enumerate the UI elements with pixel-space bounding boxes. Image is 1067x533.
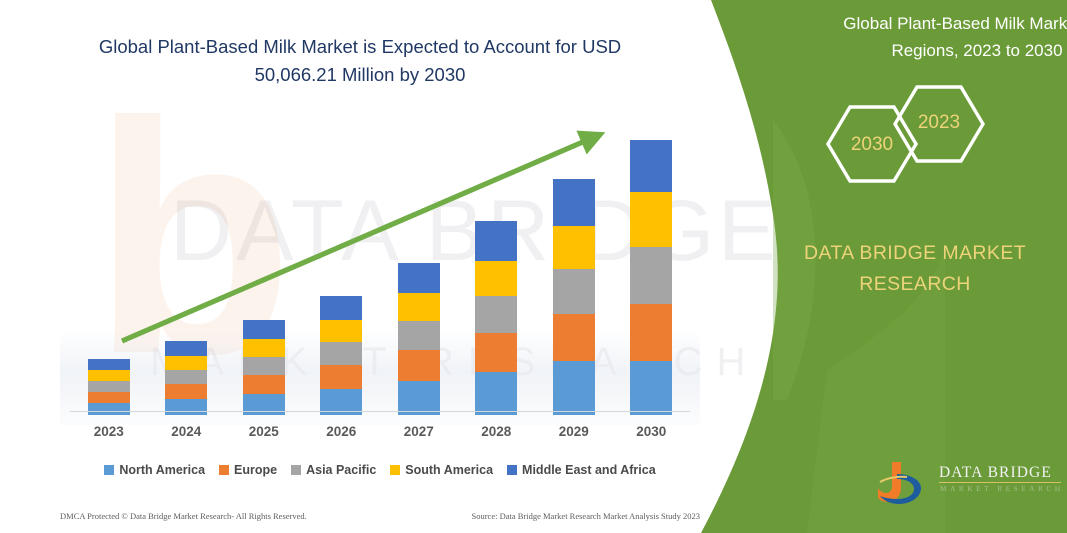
bar-2026 (320, 296, 362, 415)
x-label-2025: 2025 (229, 424, 299, 439)
segment-asia-pacific (243, 357, 285, 375)
segment-middle-east-and-africa (398, 263, 440, 293)
segment-europe (320, 365, 362, 389)
legend-label: Middle East and Africa (522, 463, 656, 477)
bar-2030 (630, 140, 672, 415)
segment-north-america (88, 403, 130, 415)
segment-middle-east-and-africa (320, 296, 362, 320)
hexagon-2023-label: 2023 (894, 112, 984, 134)
db-logo-icon (877, 458, 937, 508)
x-label-2028: 2028 (461, 424, 531, 439)
infographic-root: b DATA BRIDGE MARKET RESEARCH Global Pla… (0, 0, 1067, 533)
logo-tagline: MARKET RESEARCH (940, 484, 1064, 493)
x-label-2024: 2024 (151, 424, 221, 439)
legend-label: Europe (234, 463, 277, 477)
legend-swatch-icon (104, 465, 114, 475)
segment-asia-pacific (475, 296, 517, 333)
segment-europe (553, 314, 595, 361)
segment-south-america (398, 293, 440, 321)
segment-middle-east-and-africa (88, 359, 130, 370)
segment-south-america (553, 226, 595, 269)
segment-asia-pacific (553, 269, 595, 314)
brand-panel: Global Plant-Based Milk Market, By Regio… (677, 0, 1067, 533)
segment-asia-pacific (88, 381, 130, 392)
segment-europe (243, 375, 285, 394)
bar-2025 (243, 320, 285, 415)
legend-swatch-icon (291, 465, 301, 475)
footer-bar: DMCA Protected © Data Bridge Market Rese… (60, 508, 700, 524)
bar-2027 (398, 263, 440, 415)
segment-asia-pacific (320, 342, 362, 365)
company-logo: DATA BRIDGE MARKET RESEARCH (877, 458, 1067, 510)
legend-label: Asia Pacific (306, 463, 376, 477)
segment-europe (475, 333, 517, 372)
segment-middle-east-and-africa (165, 341, 207, 356)
legend-item-south-america[interactable]: South America (390, 463, 493, 477)
legend-label: South America (405, 463, 493, 477)
chart-legend: North AmericaEuropeAsia PacificSouth Ame… (70, 461, 690, 479)
x-label-2026: 2026 (306, 424, 376, 439)
legend-swatch-icon (390, 465, 400, 475)
bar-2024 (165, 341, 207, 415)
bar-2028 (475, 221, 517, 415)
axis-baseline (70, 411, 690, 412)
logo-wordmark: DATA BRIDGE (939, 464, 1052, 482)
legend-item-middle-east-and-africa[interactable]: Middle East and Africa (507, 463, 656, 477)
bar-2029 (553, 179, 595, 415)
hexagon-2030-label: 2030 (827, 134, 917, 156)
segment-south-america (320, 320, 362, 342)
segment-middle-east-and-africa (553, 179, 595, 226)
segment-europe (88, 392, 130, 403)
page-title: Global Plant-Based Milk Market is Expect… (60, 33, 660, 89)
legend-swatch-icon (219, 465, 229, 475)
x-label-2023: 2023 (74, 424, 144, 439)
segment-europe (398, 350, 440, 381)
x-label-2027: 2027 (384, 424, 454, 439)
segment-middle-east-and-africa (243, 320, 285, 339)
segment-middle-east-and-africa (630, 140, 672, 192)
segment-south-america (475, 261, 517, 296)
segment-north-america (165, 399, 207, 415)
segment-north-america (475, 372, 517, 415)
segment-north-america (553, 361, 595, 415)
segment-asia-pacific (398, 321, 440, 350)
segment-north-america (630, 361, 672, 415)
segment-asia-pacific (630, 247, 672, 304)
bar-chart-plot-area (70, 110, 690, 415)
segment-middle-east-and-africa (475, 221, 517, 261)
segment-europe (165, 384, 207, 399)
x-label-2029: 2029 (539, 424, 609, 439)
legend-item-asia-pacific[interactable]: Asia Pacific (291, 463, 376, 477)
legend-item-north-america[interactable]: North America (104, 463, 205, 477)
legend-item-europe[interactable]: Europe (219, 463, 277, 477)
x-axis-labels: 20232024202520262027202820292030 (70, 424, 690, 444)
segment-south-america (243, 339, 285, 357)
footer-source: Source: Data Bridge Market Research Mark… (471, 511, 700, 521)
segment-south-america (630, 192, 672, 247)
legend-label: North America (119, 463, 205, 477)
logo-divider (939, 482, 1061, 483)
panel-title: Global Plant-Based Milk Market, By Regio… (827, 10, 1067, 64)
footer-copyright: DMCA Protected © Data Bridge Market Rese… (60, 511, 307, 521)
segment-south-america (165, 356, 207, 370)
x-label-2030: 2030 (616, 424, 686, 439)
brand-name: DATA BRIDGE MARKET RESEARCH (765, 238, 1065, 300)
legend-swatch-icon (507, 465, 517, 475)
hexagon-badges: 2030 2023 (795, 82, 1045, 207)
segment-north-america (398, 381, 440, 415)
segment-asia-pacific (165, 370, 207, 384)
segment-south-america (88, 370, 130, 381)
bar-2023 (88, 359, 130, 415)
segment-europe (630, 304, 672, 361)
